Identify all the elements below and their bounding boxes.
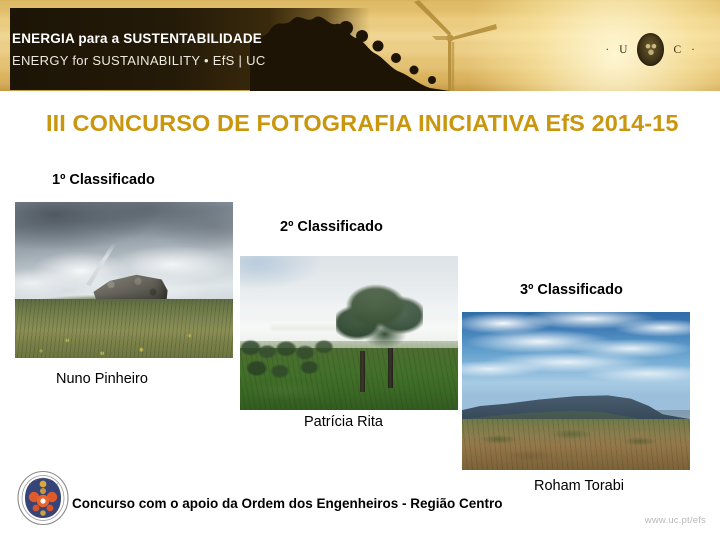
photo-second-place xyxy=(240,256,458,410)
footer-url: www.uc.pt/efs xyxy=(645,515,706,526)
photo1-grass-foreground xyxy=(15,299,233,358)
ordem-dos-engenheiros-crest-icon: ORD EM xyxy=(16,470,70,526)
footer-sponsor-text: Concurso com o apoio da Ordem dos Engenh… xyxy=(72,496,503,511)
banner-wordmark: ENERGIA para a SUSTENTABILIDADE ENERGY f… xyxy=(12,30,266,70)
photo-first-place xyxy=(15,202,233,358)
uc-dot-right: · xyxy=(691,44,696,56)
uc-letter-c: C xyxy=(673,44,682,56)
rank-label-second: 2º Classificado xyxy=(280,219,383,235)
uc-brandmark: · U C · xyxy=(605,33,696,66)
photo2-mist-overlay xyxy=(240,256,458,410)
banner-line-en: ENERGY for SUSTAINABILITY • EfS | UC xyxy=(12,51,266,70)
photo3-foreground-scrub xyxy=(462,419,690,470)
uc-letter-u: U xyxy=(619,44,628,56)
rank-label-first: 1º Classificado xyxy=(52,172,155,188)
svg-text:M: M xyxy=(55,482,58,486)
author-name-first: Nuno Pinheiro xyxy=(56,371,148,387)
wind-turbine-icon xyxy=(392,0,512,91)
uc-dot-left: · xyxy=(605,44,610,56)
header-banner: ENERGIA para a SUSTENTABILIDADE ENERGY f… xyxy=(0,0,720,91)
banner-line-pt: ENERGIA para a SUSTENTABILIDADE xyxy=(12,30,266,47)
author-name-third: Roham Torabi xyxy=(534,478,624,494)
page-title: III CONCURSO DE FOTOGRAFIA INICIATIVA Ef… xyxy=(46,110,679,137)
rank-label-third: 3º Classificado xyxy=(520,282,623,298)
svg-text:E: E xyxy=(49,478,51,482)
uc-seal-icon xyxy=(637,33,664,66)
photo-third-place xyxy=(462,312,690,470)
author-name-second: Patrícia Rita xyxy=(304,414,383,430)
